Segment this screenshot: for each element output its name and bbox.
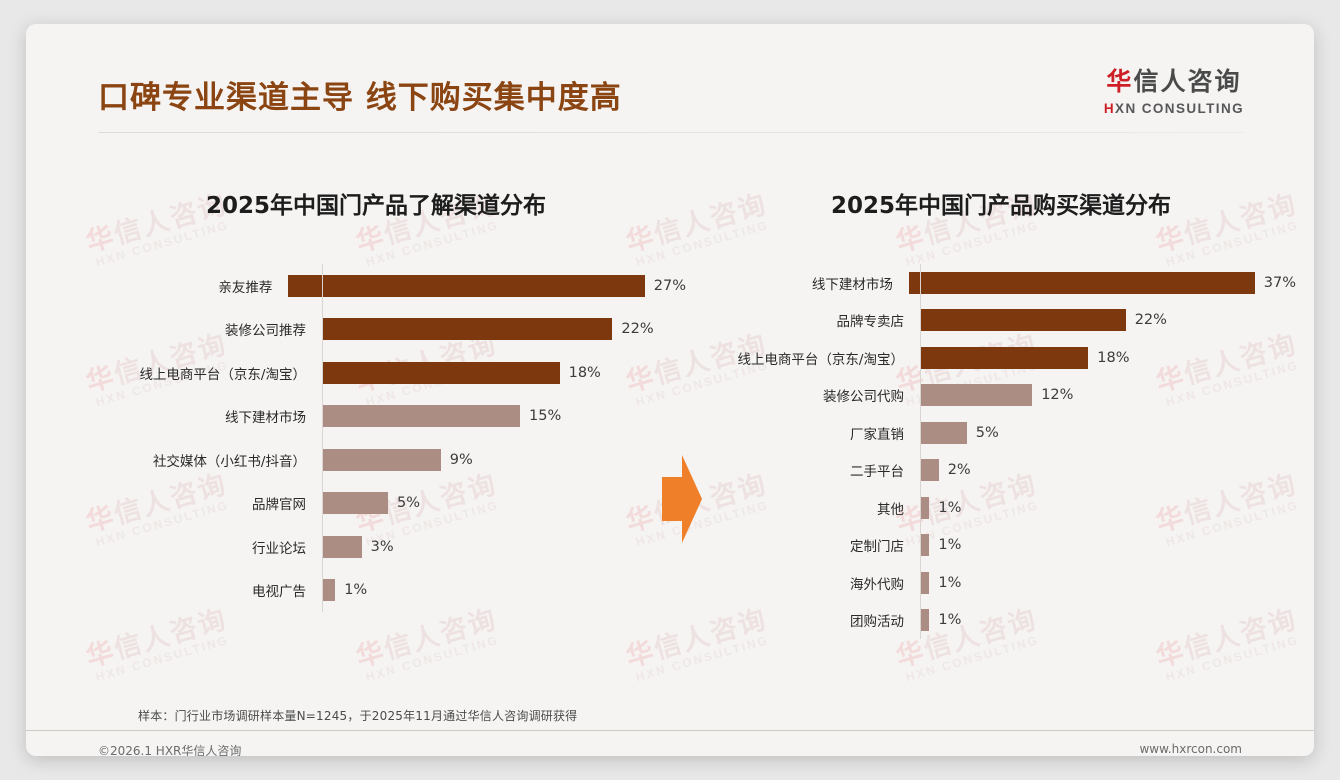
bar-value-label: 9% [450, 452, 473, 468]
bar [920, 497, 929, 519]
bar-category-label: 装修公司代购 [706, 385, 912, 405]
bar [322, 579, 335, 601]
arrow-right-icon [662, 455, 702, 543]
bar-chart-row: 海外代购1% [706, 564, 1296, 602]
website-url[interactable]: www.hxrcon.com [1139, 742, 1242, 756]
bar-value-label: 1% [938, 612, 961, 628]
bar [920, 384, 1032, 406]
logo-chinese: 华信人咨询 [1104, 62, 1244, 98]
bar-chart-row: 线上电商平台（京东/淘宝）18% [706, 339, 1296, 377]
bar-category-label: 海外代购 [706, 573, 912, 593]
bar-chart-row: 线上电商平台（京东/淘宝）18% [66, 351, 686, 395]
logo-english: HXN CONSULTING [1104, 101, 1244, 116]
logo-english-red: H [1104, 101, 1115, 116]
copyright-text: ©2026.1 HXR华信人咨询 [98, 742, 241, 756]
chart-title-awareness: 2025年中国门产品了解渠道分布 [66, 186, 686, 220]
bar-track: 1% [912, 534, 1296, 556]
bar-chart-row: 装修公司代购12% [706, 377, 1296, 415]
bar-value-label: 18% [1097, 350, 1129, 366]
bar-chart-row: 品牌官网5% [66, 482, 686, 526]
chart-axis-line [920, 264, 921, 639]
bar [920, 422, 967, 444]
bar [920, 534, 929, 556]
bar-category-label: 二手平台 [706, 460, 912, 480]
bar-track: 2% [912, 459, 1296, 481]
slide-header: 口碑专业渠道主导 线下购买集中度高 华信人咨询 HXN CONSULTING [26, 24, 1314, 134]
source-footnote: 样本：门行业市场调研样本量N=1245，于2025年11月通过华信人咨询调研获得 [138, 707, 577, 724]
bar-category-label: 其他 [706, 498, 912, 518]
bar-category-label: 厂家直销 [706, 423, 912, 443]
chart-axis-line [322, 264, 323, 612]
bar-track: 15% [314, 405, 686, 427]
chart-panel-purchase: 2025年中国门产品购买渠道分布 线下建材市场37%品牌专卖店22%线上电商平台… [706, 134, 1296, 679]
bar-category-label: 行业论坛 [66, 537, 314, 557]
bar-chart-row: 装修公司推荐22% [66, 308, 686, 352]
bar-value-label: 12% [1041, 387, 1073, 403]
logo-chinese-red: 华 [1106, 67, 1133, 96]
page-title: 口碑专业渠道主导 线下购买集中度高 [98, 72, 622, 117]
bar-track: 1% [912, 497, 1296, 519]
bar-chart-row: 团购活动1% [706, 602, 1296, 640]
logo-chinese-rest: 信人咨询 [1133, 67, 1241, 96]
bar-track: 1% [912, 572, 1296, 594]
bar-chart-row: 线下建材市场37% [706, 264, 1296, 302]
bar-category-label: 品牌官网 [66, 493, 314, 513]
bar-value-label: 3% [371, 539, 394, 555]
bar [288, 275, 644, 297]
bar-category-label: 定制门店 [706, 535, 912, 555]
bar-track: 1% [912, 609, 1296, 631]
bar-value-label: 18% [569, 365, 601, 381]
charts-area: 2025年中国门产品了解渠道分布 亲友推荐27%装修公司推荐22%线上电商平台（… [26, 134, 1314, 679]
bar-category-label: 团购活动 [706, 610, 912, 630]
bar [920, 347, 1088, 369]
bar [322, 362, 560, 384]
bar [322, 405, 520, 427]
bar-chart-row: 其他1% [706, 489, 1296, 527]
bar-value-label: 1% [938, 500, 961, 516]
bar-track: 5% [912, 422, 1296, 444]
bar-value-label: 15% [529, 408, 561, 424]
bar-value-label: 1% [344, 582, 367, 598]
bar-chart-row: 亲友推荐27% [66, 264, 686, 308]
bar-chart-row: 定制门店1% [706, 527, 1296, 565]
slide-footer: ©2026.1 HXR华信人咨询 www.hxrcon.com [26, 731, 1314, 756]
bar-chart-row: 社交媒体（小红书/抖音）9% [66, 438, 686, 482]
bar-chart-purchase: 线下建材市场37%品牌专卖店22%线上电商平台（京东/淘宝）18%装修公司代购1… [706, 264, 1296, 639]
bar-category-label: 线上电商平台（京东/淘宝） [706, 348, 912, 368]
bar-track: 27% [280, 275, 686, 297]
bar-value-label: 2% [948, 462, 971, 478]
bar-value-label: 1% [938, 537, 961, 553]
bar-chart-row: 电视广告1% [66, 569, 686, 613]
company-logo: 华信人咨询 HXN CONSULTING [1104, 62, 1244, 116]
bar-track: 37% [901, 272, 1296, 294]
bar-track: 5% [314, 492, 686, 514]
bar-value-label: 22% [621, 321, 653, 337]
bar [322, 492, 388, 514]
logo-english-rest: XN CONSULTING [1115, 101, 1244, 116]
bar-category-label: 线上电商平台（京东/淘宝） [66, 363, 314, 383]
bar-track: 12% [912, 384, 1296, 406]
bar-track: 18% [912, 347, 1296, 369]
bar [322, 318, 612, 340]
chart-title-purchase: 2025年中国门产品购买渠道分布 [706, 186, 1296, 220]
bar-value-label: 27% [654, 278, 686, 294]
bar-chart-row: 行业论坛3% [66, 525, 686, 569]
bar-category-label: 电视广告 [66, 580, 314, 600]
bar-track: 9% [314, 449, 686, 471]
bar-category-label: 线下建材市场 [706, 273, 901, 293]
bar [909, 272, 1255, 294]
bar [920, 309, 1126, 331]
chart-panel-awareness: 2025年中国门产品了解渠道分布 亲友推荐27%装修公司推荐22%线上电商平台（… [66, 134, 686, 679]
bar [920, 572, 929, 594]
bar-chart-row: 二手平台2% [706, 452, 1296, 490]
bar-category-label: 社交媒体（小红书/抖音） [66, 450, 314, 470]
bar-chart-row: 线下建材市场15% [66, 395, 686, 439]
bar-value-label: 37% [1264, 275, 1296, 291]
bar-chart-row: 品牌专卖店22% [706, 302, 1296, 340]
bar-value-label: 1% [938, 575, 961, 591]
bar [920, 459, 939, 481]
bar-value-label: 5% [976, 425, 999, 441]
bar-category-label: 亲友推荐 [66, 276, 280, 296]
slide-card: 华信人咨询HXN CONSULTING华信人咨询HXN CONSULTING华信… [26, 24, 1314, 756]
bar-track: 3% [314, 536, 686, 558]
bar-category-label: 品牌专卖店 [706, 310, 912, 330]
bar-category-label: 线下建材市场 [66, 406, 314, 426]
title-divider [98, 132, 1244, 133]
bar [920, 609, 929, 631]
bar [322, 536, 362, 558]
bar-value-label: 22% [1135, 312, 1167, 328]
bar [322, 449, 441, 471]
bar-track: 22% [314, 318, 686, 340]
bar-track: 22% [912, 309, 1296, 331]
bar-track: 18% [314, 362, 686, 384]
bar-track: 1% [314, 579, 686, 601]
bar-chart-awareness: 亲友推荐27%装修公司推荐22%线上电商平台（京东/淘宝）18%线下建材市场15… [66, 264, 686, 612]
bar-value-label: 5% [397, 495, 420, 511]
bar-category-label: 装修公司推荐 [66, 319, 314, 339]
bar-chart-row: 厂家直销5% [706, 414, 1296, 452]
